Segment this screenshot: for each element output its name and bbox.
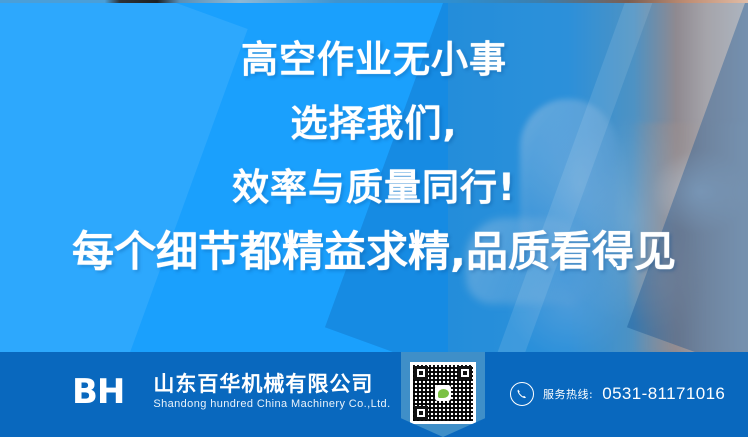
hotline-label: 服务热线: — [543, 386, 593, 402]
hotline-number[interactable]: 0531-81171016 — [602, 384, 725, 404]
headline-line-1: 高空作业无小事 — [241, 41, 507, 78]
headline-group: 高空作业无小事 选择我们, 效率与质量同行! 每个细节都精益求精,品质看得见 — [0, 3, 748, 352]
headline-line-4: 每个细节都精益求精,品质看得见 — [72, 231, 676, 273]
cropped-image-strip — [0, 0, 748, 3]
footer-bar: BH 山东百华机械有限公司 Shandong hundred China Mac… — [0, 352, 748, 437]
qr-matrix — [413, 365, 473, 421]
wechat-icon — [435, 385, 451, 401]
qr-finder-top-right — [458, 366, 472, 380]
company-logo: BH 山东百华机械有限公司 Shandong hundred China Mac… — [72, 374, 391, 410]
company-name-cn: 山东百华机械有限公司 — [153, 374, 390, 395]
qr-finder-bottom-left — [414, 406, 428, 420]
phone-icon — [510, 382, 534, 406]
logo-wordmark: BH — [72, 375, 124, 409]
headline-line-2: 选择我们, — [290, 105, 457, 142]
qr-code[interactable] — [410, 362, 476, 424]
qr-finder-top-left — [414, 366, 428, 380]
promo-banner: 高空作业无小事 选择我们, 效率与质量同行! 每个细节都精益求精,品质看得见 B… — [0, 0, 748, 437]
headline-line-3: 效率与质量同行! — [232, 169, 516, 206]
company-name-en: Shandong hundred China Machinery Co.,Ltd… — [153, 399, 390, 410]
service-hotline: 服务热线: 0531-81171016 — [510, 382, 725, 406]
